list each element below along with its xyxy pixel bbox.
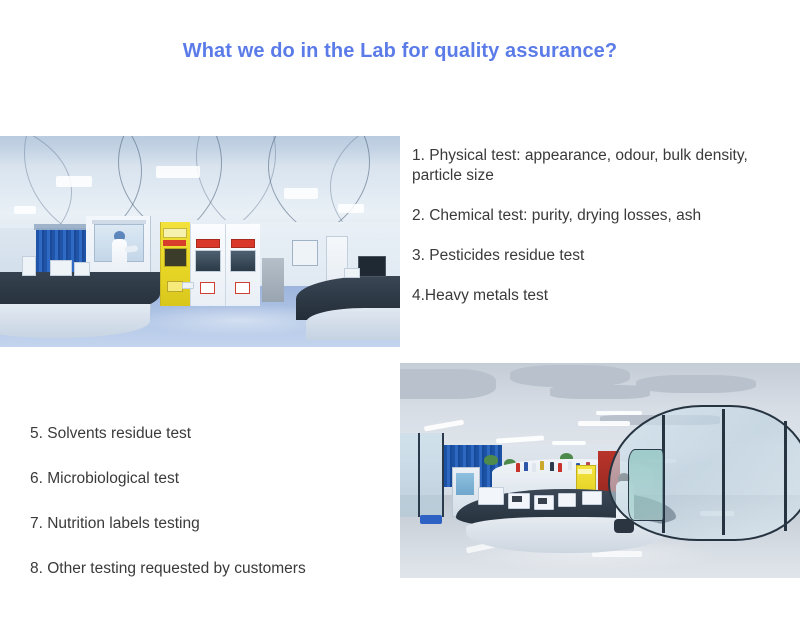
reagent-bottle (516, 463, 520, 472)
gas-cabinet-window (195, 250, 221, 272)
gas-cabinet-hazard-label (231, 239, 255, 248)
bench-instrument (582, 491, 602, 505)
instrument-screen (538, 498, 547, 504)
list-item: 7. Nutrition labels testing (30, 514, 400, 534)
cabinet-label (578, 469, 592, 474)
list-item: 2. Chemical test: purity, drying losses,… (412, 206, 800, 226)
reagent-bottle (540, 461, 544, 470)
lab-photo-top-left (0, 136, 400, 347)
list-item: 6. Microbiological test (30, 469, 400, 489)
instrument-screen (512, 496, 522, 502)
glass-door-panel (628, 449, 664, 521)
glass-mullion (418, 433, 420, 517)
ceiling-duct (510, 365, 630, 387)
list-item: 1. Physical test: appearance, odour, bul… (412, 146, 800, 186)
ceiling-light (284, 188, 318, 199)
grey-storage-unit (262, 258, 284, 302)
bench-instrument (558, 493, 576, 507)
cabinet-warning-sign (167, 281, 183, 292)
cabinet-label (163, 228, 187, 238)
wall-panel (292, 240, 318, 266)
ceiling-duct (400, 369, 496, 399)
bench-item (182, 282, 194, 289)
refrigerator-window (456, 473, 474, 495)
glass-mullion (784, 421, 787, 531)
bench-instrument (50, 260, 72, 276)
gas-cabinet-hazard-label (196, 239, 220, 248)
ceiling-light (552, 441, 586, 445)
ceiling-light (578, 421, 630, 426)
ceiling-light (56, 176, 92, 187)
reagent-bottle (550, 462, 554, 471)
lab-photo-bottom-right (400, 363, 800, 578)
page-title: What we do in the Lab for quality assura… (0, 38, 800, 64)
reagent-bottle (568, 461, 572, 470)
gas-cabinet-warning-sign (200, 282, 215, 294)
blue-storage-box (420, 515, 442, 524)
ceiling-duct (550, 385, 650, 399)
glass-mullion (722, 409, 725, 535)
cabinet-window (164, 248, 187, 267)
bench-instrument (22, 256, 36, 276)
reagent-bottle (558, 463, 562, 472)
list-item: 8. Other testing requested by customers (30, 559, 400, 579)
potted-plant (484, 455, 498, 465)
reagent-bottle (532, 463, 536, 472)
cabinet-hazard-label (163, 240, 186, 246)
ceiling-light (14, 206, 36, 214)
bench-instrument (344, 268, 360, 278)
bench-instrument (478, 487, 504, 505)
lab-bench-right-base (306, 308, 400, 340)
ceiling-light (596, 411, 642, 415)
ceiling-light (338, 204, 364, 213)
bench-instrument (74, 262, 90, 276)
ceiling-duct (636, 375, 756, 393)
glass-partition-left (400, 433, 444, 517)
list-item: 4.Heavy metals test (412, 286, 800, 306)
test-list-top: 1. Physical test: appearance, odour, bul… (412, 146, 800, 326)
reagent-bottle (524, 462, 528, 471)
list-item: 5. Solvents residue test (30, 424, 400, 444)
list-item: 3. Pesticides residue test (412, 246, 800, 266)
test-list-bottom: 5. Solvents residue test 6. Microbiologi… (30, 424, 400, 604)
gas-cabinet-warning-sign (235, 282, 250, 294)
gas-cabinet-window (230, 250, 256, 272)
ceiling-light (156, 166, 200, 178)
computer-monitor (358, 256, 386, 277)
